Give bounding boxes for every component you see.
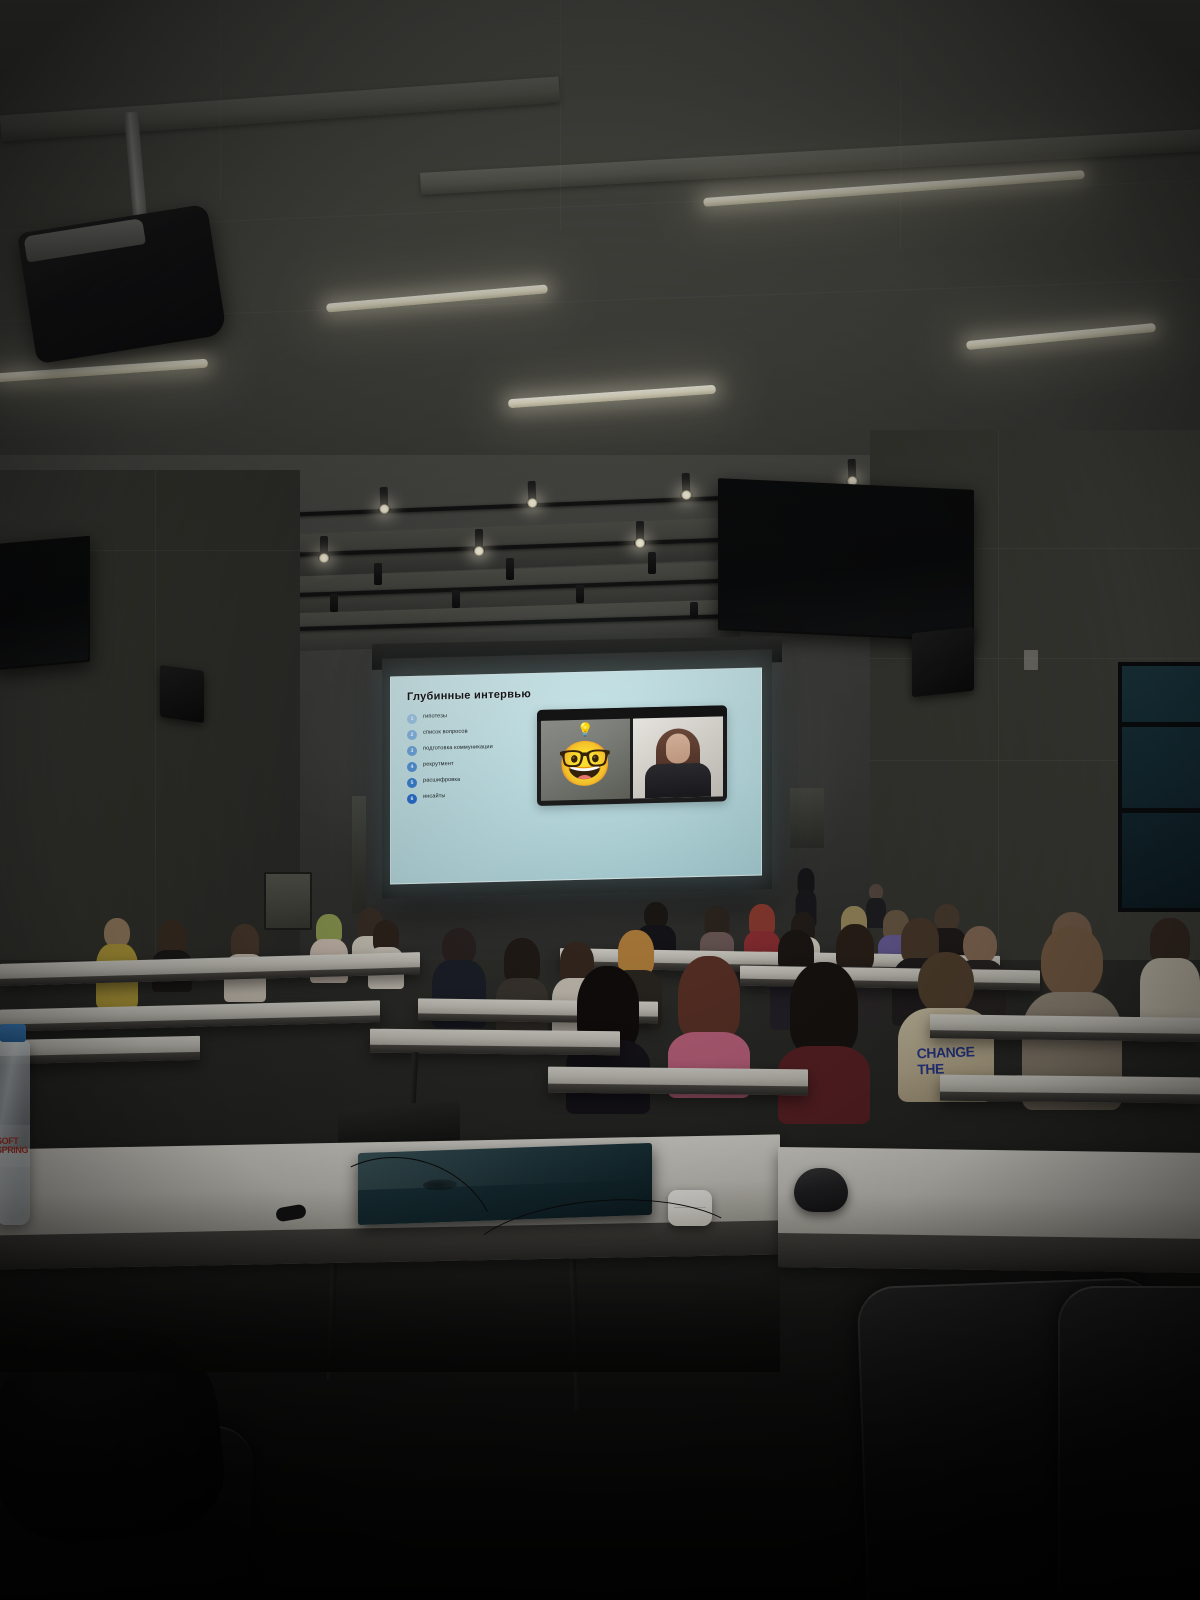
ceiling-spotlight: [528, 481, 537, 503]
ceiling-spotlight: [374, 563, 382, 585]
ceiling-spotlight: [690, 602, 698, 618]
ceiling-beam: [0, 76, 560, 141]
slide-bullet-list: 1 гипотезы 2 список вопросов 3 подготовк…: [407, 710, 527, 809]
ceiling-seam: [220, 0, 221, 200]
bullet-number-5: 5: [407, 778, 417, 788]
water-bottle[interactable]: SOFT SPRING: [0, 1040, 30, 1225]
slide-item-label: гипотезы: [423, 712, 447, 721]
hair: [678, 956, 740, 1040]
presentation-slide: Глубинные интервью 1 гипотезы 2 список в…: [390, 667, 762, 884]
person-face: [666, 733, 690, 764]
computer-mouse[interactable]: [794, 1168, 848, 1212]
ceiling-spotlight: [848, 459, 857, 481]
list-item: 2 список вопросов: [407, 726, 527, 740]
side-cabinet: [790, 788, 824, 848]
head: [1041, 926, 1103, 998]
wall-speaker-left: [160, 665, 204, 723]
wall-seam: [998, 430, 999, 990]
person-torso: [645, 763, 711, 799]
list-item: 1 гипотезы: [407, 710, 527, 724]
bottle-label: SOFT SPRING: [0, 1125, 30, 1167]
bullet-number-1: 1: [407, 714, 417, 724]
wall-post: [352, 796, 366, 914]
video-tile-emoji: 💡 🤓: [541, 719, 630, 801]
slide-item-label: инсайты: [423, 792, 446, 801]
list-item: 3 подготовка коммуникации: [407, 742, 527, 756]
list-item: [1140, 918, 1200, 1026]
ceiling-seam: [560, 0, 561, 230]
bullet-number-6: 6: [407, 794, 417, 804]
tv-screen: [0, 538, 88, 668]
list-item: 5 расшифровка: [407, 774, 527, 788]
wall-switch[interactable]: [1024, 650, 1038, 670]
ceiling-spotlight: [682, 473, 691, 495]
head: [918, 952, 974, 1014]
hair: [790, 962, 858, 1054]
desk-row-2: [930, 1014, 1200, 1042]
foreground-desk-right: [778, 1147, 1200, 1273]
bullet-number-4: 4: [407, 762, 417, 772]
wall-seam: [155, 470, 156, 990]
window-mullion: [1122, 722, 1200, 727]
ceiling-spotlight: [506, 558, 514, 580]
desk-row-1: [548, 1067, 808, 1096]
slide-item-label: подготовка коммуникации: [423, 743, 493, 753]
tv-screen: [720, 480, 972, 639]
ceiling-spotlight: [576, 585, 584, 603]
lightbulb-icon: 💡: [577, 723, 593, 736]
desk-row-2: [370, 1029, 620, 1056]
slide-item-label: список вопросов: [423, 728, 468, 737]
ceiling-spotlight: [648, 552, 656, 574]
ceiling-spotlight: [452, 590, 460, 608]
bullet-number-2: 2: [407, 730, 417, 740]
list-item: 4 рекрутмент: [407, 758, 527, 772]
bottle-cap: [0, 1024, 26, 1042]
video-call-screenshot: 💡 🤓: [537, 705, 727, 806]
slide-title: Глубинные интервью: [407, 683, 745, 703]
desk-row-2: [0, 1036, 200, 1064]
ceiling-tv-left: [0, 536, 90, 671]
desk-edge: [778, 1233, 1200, 1273]
window-right: [1118, 662, 1200, 912]
ceiling-spotlight: [320, 536, 328, 558]
shirt-text: CHANGE THE: [917, 1042, 995, 1077]
slide-item-label: рекрутмент: [423, 760, 454, 769]
ceiling-spotlight: [380, 487, 389, 509]
nerd-face-icon: 🤓: [558, 742, 613, 787]
list-item: 6 инсайты: [407, 790, 527, 804]
chair-rim: [1058, 1286, 1200, 1596]
ceiling-seam: [900, 0, 901, 250]
ceiling-spotlight: [330, 594, 338, 612]
wall-speaker-right: [912, 627, 974, 698]
bullet-number-3: 3: [407, 746, 417, 756]
whiteboard-panel: [264, 872, 312, 930]
lecture-hall-photo: Глубинные интервью 1 гипотезы 2 список в…: [0, 0, 1200, 1600]
ceiling-spotlight: [475, 529, 483, 551]
under-desk-shadow: [0, 1262, 780, 1372]
chair-foreground-far-right[interactable]: [1058, 1286, 1200, 1596]
video-tile-person: [633, 716, 723, 798]
window-mullion: [1122, 808, 1200, 813]
ceiling-spotlight: [636, 521, 644, 543]
desk-row-1: [940, 1075, 1200, 1104]
slide-item-label: расшифровка: [423, 776, 460, 785]
ceiling-tv-right: [718, 478, 974, 642]
